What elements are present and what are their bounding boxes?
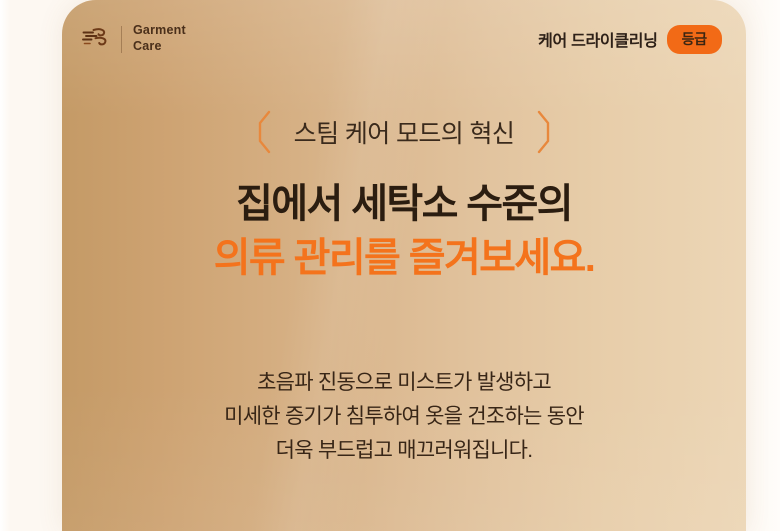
left-angle-bracket-icon xyxy=(256,110,272,154)
brand-name-line1: Garment xyxy=(133,23,186,39)
promo-card-content: Garment Care 케어 드라이클리닝 등급 스팀 케어 모드의 혁신 xyxy=(62,0,746,531)
body-copy-line-3: 더욱 부드럽고 매끄러워집니다. xyxy=(62,434,746,468)
grade-badge-pill: 등급 xyxy=(667,25,722,54)
steam-wind-icon xyxy=(80,25,110,53)
top-bar: Garment Care 케어 드라이클리닝 등급 xyxy=(62,17,746,61)
headline-line-2: 의류 관리를 즐겨보세요. xyxy=(62,232,746,286)
grade-badge: 케어 드라이클리닝 등급 xyxy=(538,25,722,54)
brand-lockup: Garment Care xyxy=(80,23,186,54)
body-copy-line-1: 초음파 진동으로 미스트가 발생하고 xyxy=(62,366,746,400)
eyebrow-text: 스팀 케어 모드의 혁신 xyxy=(294,114,515,150)
eyebrow: 스팀 케어 모드의 혁신 xyxy=(62,110,746,154)
right-angle-bracket-icon xyxy=(536,110,552,154)
headline-line-1: 집에서 세탁소 수준의 xyxy=(62,178,746,232)
brand-name-line2: Care xyxy=(133,39,186,55)
body-copy: 초음파 진동으로 미스트가 발생하고 미세한 증기가 침투하여 옷을 건조하는 … xyxy=(62,366,746,468)
brand-name: Garment Care xyxy=(133,23,186,54)
headline: 집에서 세탁소 수준의 의류 관리를 즐겨보세요. xyxy=(62,178,746,285)
grade-badge-label: 케어 드라이클리닝 xyxy=(538,27,658,51)
promo-card: Garment Care 케어 드라이클리닝 등급 스팀 케어 모드의 혁신 xyxy=(62,0,746,531)
body-copy-line-2: 미세한 증기가 침투하여 옷을 건조하는 동안 xyxy=(62,400,746,434)
brand-divider xyxy=(121,26,122,53)
page-canvas: Garment Care 케어 드라이클리닝 등급 스팀 케어 모드의 혁신 xyxy=(0,0,780,531)
